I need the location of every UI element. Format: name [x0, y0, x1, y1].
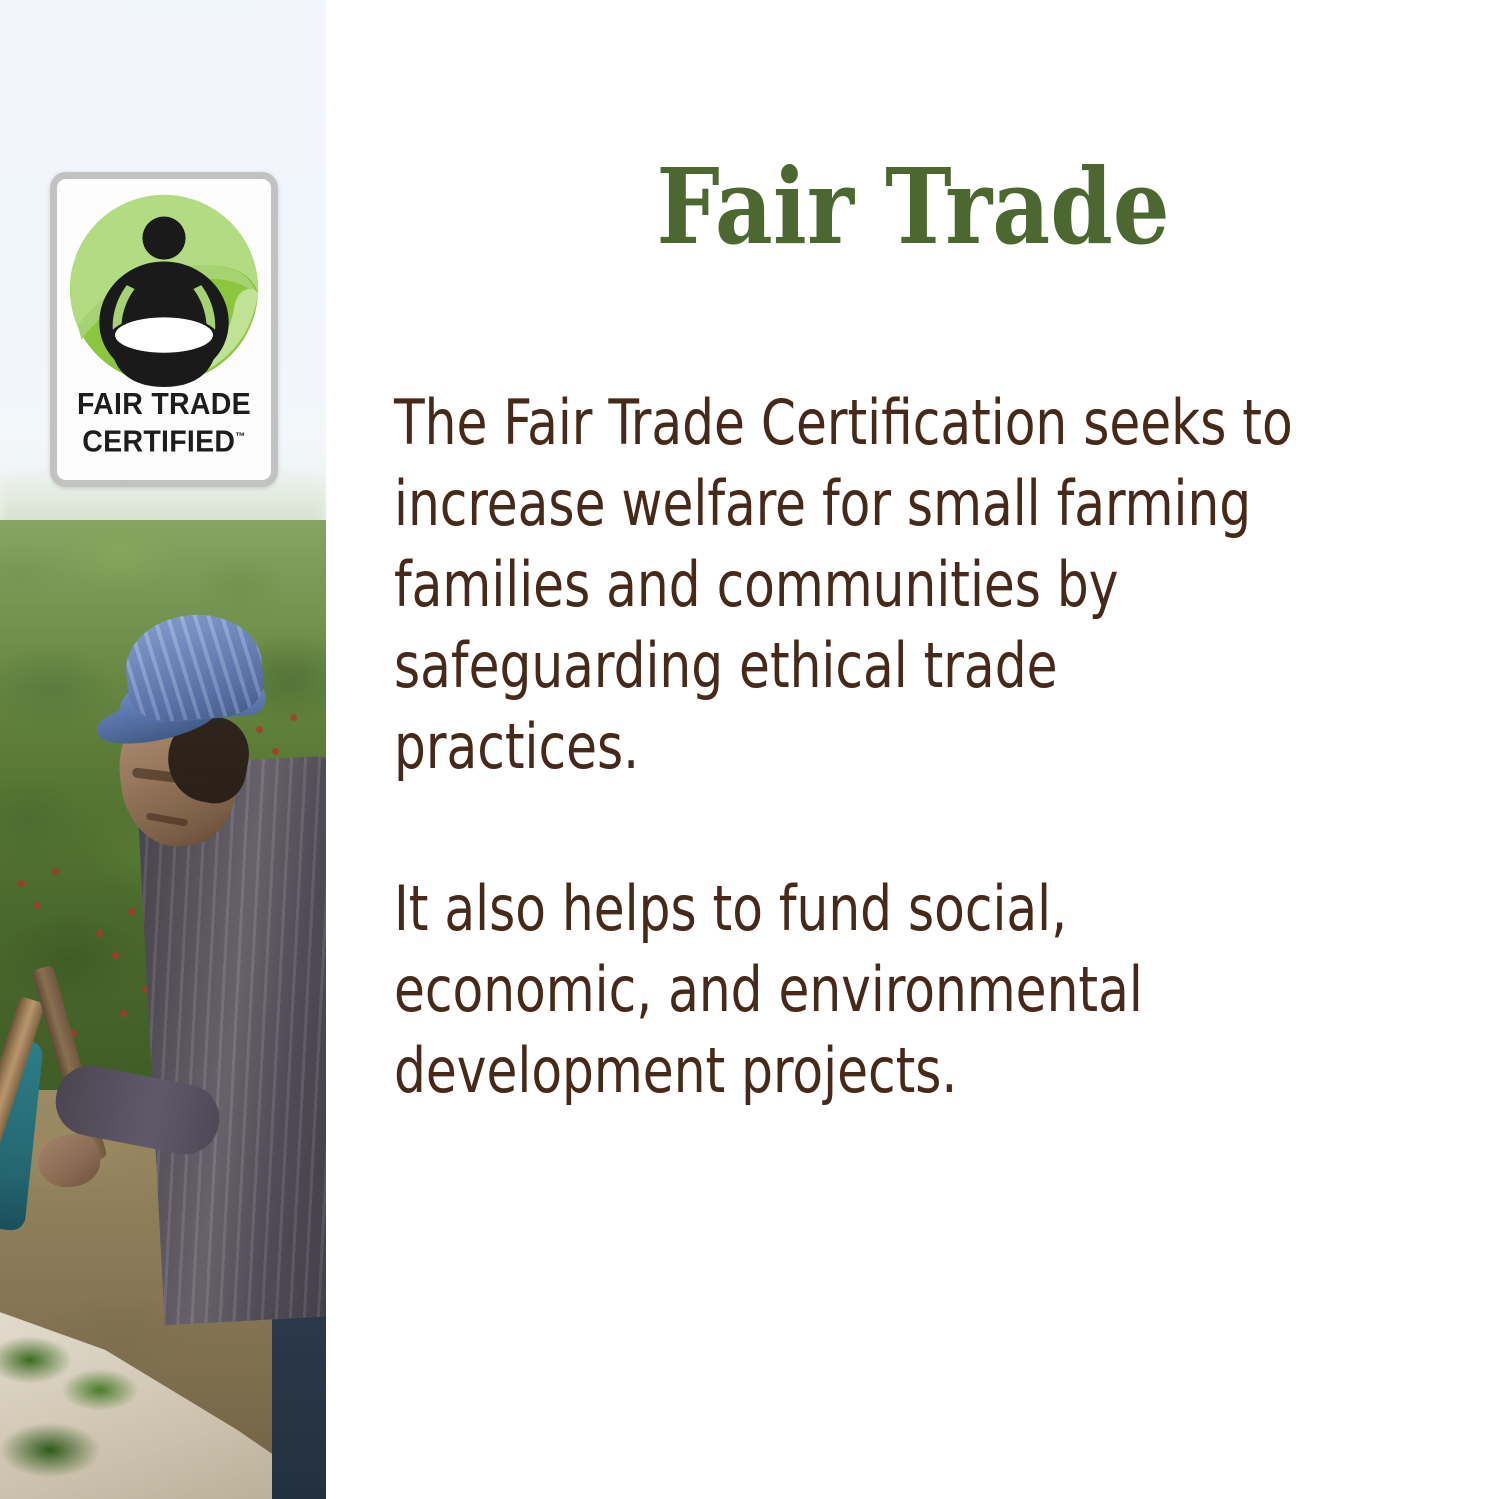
paragraph-1: The Fair Trade Certification seeks to in…: [394, 382, 1303, 787]
fair-trade-logo-icon: [66, 191, 262, 387]
coffee-cherry: [290, 714, 297, 721]
badge-line-certified: CERTIFIED™: [66, 420, 263, 458]
coffee-cherry: [52, 868, 59, 875]
coffee-cherry: [256, 726, 263, 733]
coffee-cherry: [18, 880, 25, 887]
coffee-cherry: [96, 930, 103, 937]
content-area: Fair Trade The Fair Trade Certification …: [326, 0, 1500, 1499]
paragraph-2: It also helps to fund social, economic, …: [394, 868, 1303, 1111]
coffee-cherry: [112, 952, 119, 959]
fair-trade-certified-badge: FAIR TRADE CERTIFIED™: [50, 172, 278, 487]
badge-line-fair-trade: FAIR TRADE: [66, 387, 263, 420]
trademark-symbol: ™: [235, 431, 245, 443]
coffee-cherry: [128, 908, 135, 915]
photo-low-leaves: [0, 1320, 180, 1499]
badge-certified-text: CERTIFIED: [82, 423, 235, 458]
coffee-cherry: [120, 1010, 127, 1017]
coffee-cherry: [272, 748, 279, 755]
fair-trade-info-panel: FAIR TRADE CERTIFIED™ Fair Trade The Fai…: [0, 0, 1500, 1499]
body-text: The Fair Trade Certification seeks to in…: [394, 382, 1303, 1111]
badge-caption: FAIR TRADE CERTIFIED™: [57, 387, 271, 458]
coffee-cherry: [34, 902, 41, 909]
page-title: Fair Trade: [408, 152, 1418, 262]
